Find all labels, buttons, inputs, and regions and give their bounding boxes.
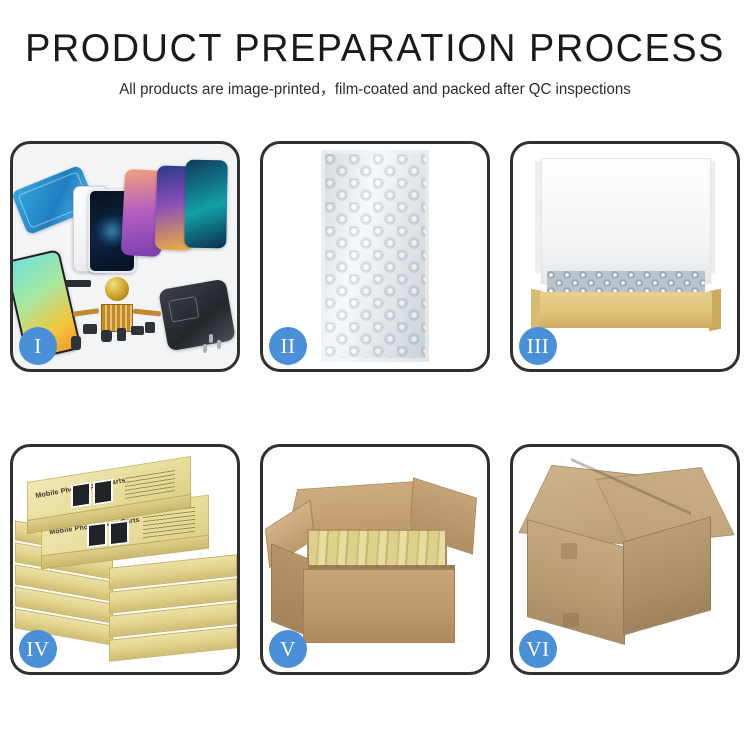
bubble-wrap-sheen — [325, 154, 425, 358]
white-box-lid — [541, 158, 711, 284]
step-badge-4: IV — [19, 630, 57, 668]
small-part-c — [117, 328, 126, 341]
step-panel-4: Mobile Phone Spare Parts Mobile Phone Sp… — [10, 444, 240, 675]
header: PRODUCT PREPARATION PROCESS All products… — [0, 26, 750, 101]
step-badge-2: II — [269, 327, 307, 365]
page-subtitle: All products are image-printed，film-coat… — [11, 79, 739, 101]
printed-box-1-screen-b — [93, 478, 113, 505]
product-preparation-infographic: PRODUCT PREPARATION PROCESS All products… — [0, 0, 750, 750]
small-part-e — [71, 336, 81, 350]
printed-box-1-screen-a — [71, 481, 91, 508]
carton-front-face — [303, 569, 455, 643]
flex-cable-right — [133, 309, 161, 317]
screw-b — [217, 340, 221, 349]
teal-phone — [184, 160, 228, 249]
process-steps-grid: I II III — [10, 141, 740, 675]
step-panel-2: II — [260, 141, 490, 372]
screw-c — [203, 344, 207, 353]
step-badge-6: VI — [519, 630, 557, 668]
carton-tab-upper — [561, 543, 577, 559]
flex-cable-left — [73, 308, 99, 317]
small-part-a — [83, 324, 97, 334]
page-title: PRODUCT PREPARATION PROCESS — [11, 26, 739, 72]
step-badge-5: V — [269, 630, 307, 668]
phone-back-housing — [158, 279, 236, 352]
step-panel-3: III — [510, 141, 740, 372]
step-panel-6: VI — [510, 444, 740, 675]
small-part-f — [145, 322, 155, 333]
printed-box-2-screen-b — [109, 520, 129, 546]
battery-part — [65, 280, 91, 287]
step-panel-1: I — [10, 141, 240, 372]
screw-a — [209, 334, 213, 343]
small-part-b — [101, 330, 112, 342]
step-badge-3: III — [519, 327, 557, 365]
wireless-coil-part — [105, 277, 129, 301]
small-part-d — [131, 326, 144, 335]
kraft-box-base — [540, 292, 712, 328]
printed-box-2-screen-a — [87, 522, 107, 548]
carton-tab-lower — [563, 613, 579, 627]
step-badge-1: I — [19, 327, 57, 365]
step-panel-5: V — [260, 444, 490, 675]
